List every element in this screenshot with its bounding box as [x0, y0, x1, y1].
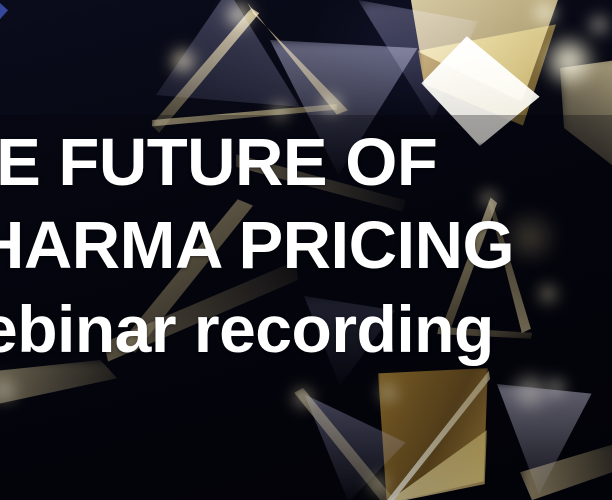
headline-block: IE FUTURE OF HARMA PRICING ebinar record…: [0, 0, 612, 500]
headline-line-2: HARMA PRICING: [0, 212, 514, 279]
headline-line-1: IE FUTURE OF: [0, 129, 437, 196]
headline-line-3: ebinar recording: [0, 296, 494, 362]
webinar-banner: IE FUTURE OF HARMA PRICING ebinar record…: [0, 0, 612, 500]
